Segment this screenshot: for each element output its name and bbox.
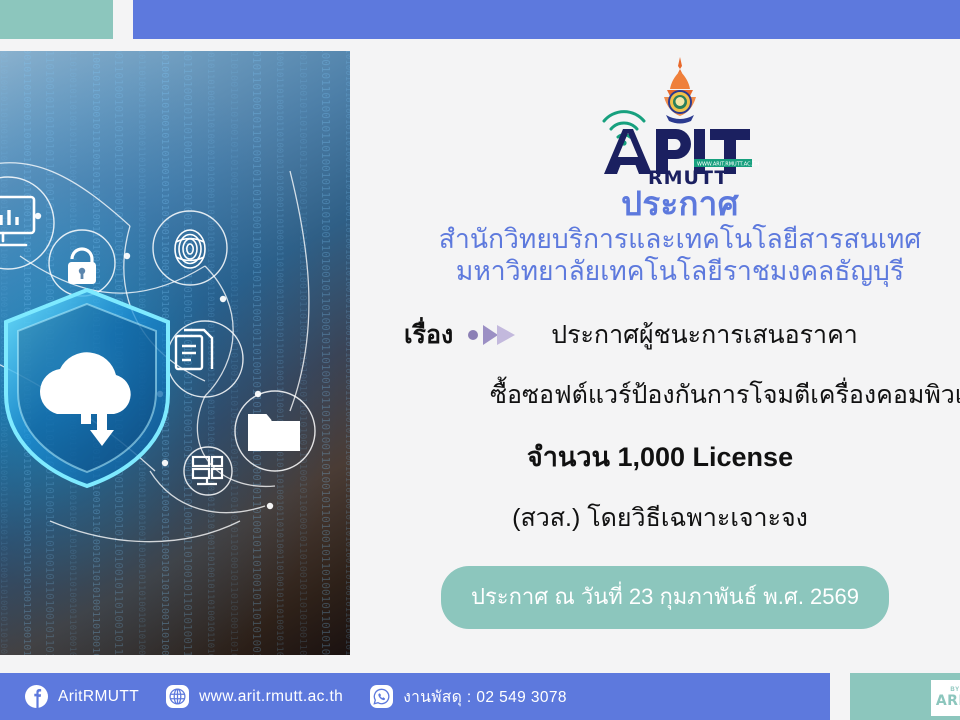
documents-stack-icon [176, 330, 212, 369]
by-arit-watermark: BY ARIT [931, 680, 960, 716]
subject-title: ประกาศผู้ชนะการเสนอราคา [551, 315, 858, 355]
phone-chat-icon [369, 684, 394, 709]
watermark-name-label: ARIT [936, 694, 960, 709]
announcement-content: WWW.ARIT.RMUTT.AC.TH RMUTT ประกาศ สำนักว… [380, 55, 960, 655]
top-decorative-blue-bar [133, 0, 960, 39]
fingerprint-icon [175, 230, 205, 268]
hero-photo-panel: 1010011010010110100101101001011010100110… [0, 51, 350, 655]
logo-svg: WWW.ARIT.RMUTT.AC.TH RMUTT [590, 55, 770, 185]
date-badge-row: ประกาศ ณ วันที่ 23 กุมภาพันธ์ พ.ศ. 2569 [380, 566, 960, 629]
cloud-shield-icon [0, 286, 175, 491]
padlock-icon [68, 249, 96, 284]
facebook-icon [24, 684, 49, 709]
arit-rmutt-logo: WWW.ARIT.RMUTT.AC.TH RMUTT [380, 55, 960, 185]
subject-method: (สวส.) โดยวิธีเฉพาะเจาะจง [380, 498, 960, 538]
rmutt-subwordmark: RMUTT [648, 167, 728, 185]
subject-label: เรื่อง [404, 315, 453, 355]
footer-website[interactable]: www.arit.rmutt.ac.th [165, 684, 343, 709]
monitor-chart-icon [0, 197, 34, 245]
subject-detail: ซื้อซอฟต์แวร์ป้องกันการโจมตีเครื่องคอมพิ… [380, 375, 960, 415]
org-line-1: สำนักวิทยบริการและเทคโนโลยีสารสนเทศ [380, 223, 960, 255]
page-title-announcement: ประกาศ [380, 185, 960, 223]
top-decorative-teal-bar [0, 0, 113, 39]
footer-facebook[interactable]: AritRMUTT [24, 684, 139, 709]
rmutt-royal-emblem [664, 57, 696, 124]
double-chevron-right-icon [467, 322, 523, 348]
folder-icon [248, 415, 300, 451]
status-badge-date: ประกาศ ณ วันที่ 23 กุมภาพันธ์ พ.ศ. 2569 [441, 566, 889, 629]
footer-phone-label: งานพัสดุ : 02 549 3078 [403, 684, 567, 709]
footer-contact-bar: AritRMUTT www.arit.rmutt.ac.th งานพัสดุ … [0, 673, 830, 720]
subject-quantity: จำนวน 1,000 License [380, 435, 960, 478]
globe-icon [165, 684, 190, 709]
footer-facebook-label: AritRMUTT [58, 688, 139, 706]
footer-website-label: www.arit.rmutt.ac.th [199, 688, 343, 706]
footer-phone[interactable]: งานพัสดุ : 02 549 3078 [369, 684, 567, 709]
subject-row: เรื่อง ประกาศผู้ชนะการเสนอราคา [380, 315, 960, 355]
org-line-2: มหาวิทยาลัยเทคโนโลยีราชมงคลธัญบุรี [380, 255, 960, 287]
